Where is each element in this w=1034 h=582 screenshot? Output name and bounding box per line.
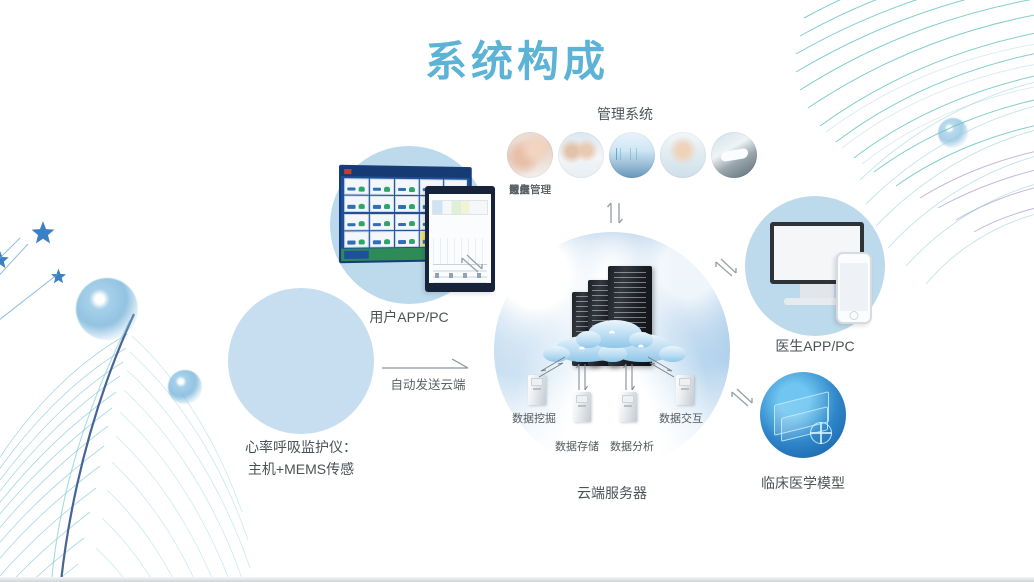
cloud-function-label-storage: 数据存储 — [555, 438, 599, 454]
management-item-user[interactable]: 用户管理 — [507, 132, 553, 184]
bubble-cluster-icon — [76, 278, 138, 340]
page-title: 系统构成 — [0, 28, 1034, 89]
smartphone-icon — [836, 252, 872, 324]
doctors-photo-icon — [558, 132, 604, 178]
management-system-title: 管理系统 — [560, 104, 690, 124]
management-system-items: 用户管理 医生管理 数据管理 分级管理 设备管理 — [507, 132, 757, 184]
auto-upload-arrow-icon — [382, 358, 474, 372]
cloud-function-label-mining: 数据挖掘 — [512, 410, 556, 426]
sleeping-patient-photo-icon — [507, 132, 553, 178]
management-item-grading[interactable]: 分级管理 — [660, 132, 706, 184]
connector-userapp-cloud — [458, 252, 484, 278]
management-item-doctor[interactable]: 医生管理 — [558, 132, 604, 184]
clinical-model-label: 临床医学模型 — [723, 473, 883, 493]
slide-canvas: 系统构成 管理系统 用户管理 医生管理 数据管理 分级管理 设备管理 — [0, 0, 1034, 582]
management-item-data[interactable]: 数据管理 — [609, 132, 655, 184]
wifi-signal-icon: ◓ — [578, 342, 586, 355]
monitor-device-label-line2: 主机+MEMS传感 — [221, 459, 381, 479]
connector-cloud-doctorapp — [712, 256, 738, 282]
management-item-device[interactable]: 设备管理 — [711, 132, 757, 184]
server-tower-icon — [676, 375, 694, 405]
connector-cloud-clinicalmodel — [728, 386, 754, 412]
bubble-cluster-icon — [938, 118, 968, 148]
star-trail-icon — [0, 228, 90, 338]
bottom-divider — [0, 577, 1034, 582]
star-icon — [0, 250, 10, 270]
doctor-app-label: 医生APP/PC — [735, 336, 895, 356]
clinical-model-circle — [760, 372, 846, 458]
wifi-signal-icon: ◓ — [608, 326, 616, 339]
server-tower-icon — [619, 392, 637, 422]
cloud-tower-arrow-icon — [575, 362, 589, 392]
ecg-monitor-photo-icon — [609, 132, 655, 178]
cloud-tower-arrow-icon — [535, 355, 569, 379]
cloud-function-label-analysis: 数据分析 — [610, 438, 654, 454]
device-photo-icon — [711, 132, 757, 178]
cloud-server-label: 云端服务器 — [532, 483, 692, 503]
management-item-label: 设备管理 — [503, 182, 557, 197]
wifi-signal-icon: ◓ — [637, 340, 645, 353]
connector-management-cloud — [602, 200, 628, 226]
auto-upload-label: 自动发送云端 — [378, 374, 478, 393]
nurse-phone-photo-icon — [660, 132, 706, 178]
cloud-function-label-exchange: 数据交互 — [659, 410, 703, 426]
server-tower-icon — [573, 392, 591, 422]
cloud-tower-arrow-icon — [622, 362, 636, 392]
bubble-cluster-icon — [168, 370, 202, 404]
monitor-device-label-line1: 心率呼吸监护仪： — [221, 437, 381, 457]
server-tower-icon — [528, 375, 546, 405]
cloud-tower-arrow-icon — [644, 355, 678, 379]
monitor-device-circle — [228, 288, 374, 434]
star-icon — [30, 220, 56, 246]
data-cube-globe-icon — [760, 372, 846, 458]
star-icon — [50, 268, 67, 285]
